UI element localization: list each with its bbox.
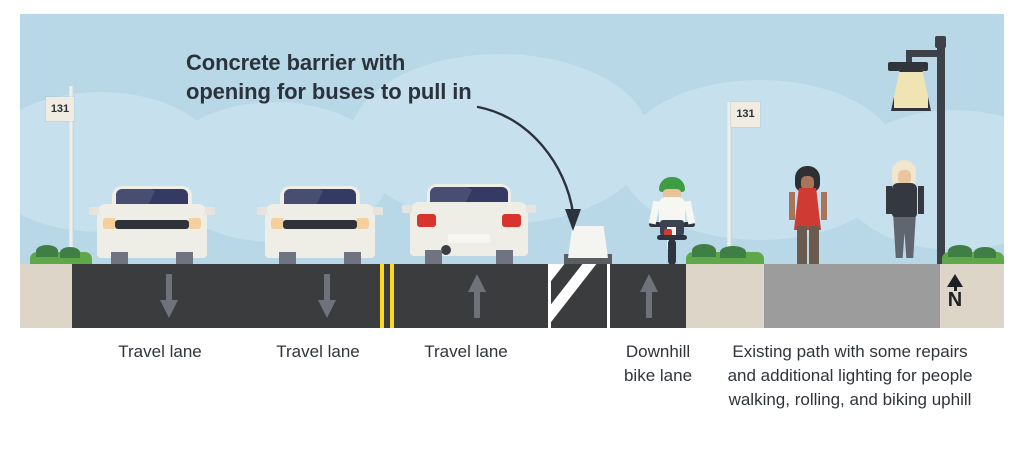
car-grille (283, 220, 358, 229)
route-sign-left: 131 (46, 97, 74, 121)
car-mirror-right (373, 207, 383, 215)
lane-label-row: Travel lane Travel lane Travel lane Down… (0, 334, 1024, 452)
route-sign-right: 131 (731, 102, 760, 127)
north-arrow-icon (947, 274, 963, 287)
car-wheel-right (344, 252, 361, 264)
pedestrian-dress (794, 188, 821, 230)
car-grille (115, 220, 190, 229)
compass-north-indicator: N (940, 274, 970, 310)
car-mirror-right (205, 207, 215, 215)
lamp-post-pole (937, 46, 945, 264)
bush-icon (948, 245, 972, 257)
label-travel-lane-2: Travel lane (238, 340, 398, 364)
pedestrian-head (801, 176, 814, 190)
car-wheel-left (279, 252, 296, 264)
center-line-left (380, 264, 384, 328)
car-mirror-left (257, 207, 267, 215)
car-1 (97, 186, 207, 264)
car-wheel-right (496, 250, 513, 264)
bush-icon (692, 244, 716, 257)
route-sign-right-number: 131 (736, 109, 754, 120)
car-wheel-left (111, 252, 128, 264)
lamp-post-arm (908, 50, 940, 57)
lamp-lantern-icon (891, 69, 931, 111)
hatch-stripe (548, 264, 610, 328)
bush-icon (974, 247, 996, 258)
pedestrian-pants (893, 212, 916, 258)
pedestrian-red-dress (788, 166, 828, 264)
car-headlight-right (356, 218, 369, 229)
label-downhill-bike-lane: Downhill bike lane (608, 340, 708, 388)
car-mirror-left (402, 205, 412, 213)
lane-arrow-3 (464, 274, 490, 318)
bicycle-front-wheel (668, 239, 676, 264)
callout-curved-arrow-icon (470, 95, 610, 245)
bush-icon (720, 246, 746, 258)
car-taillight-left (417, 214, 436, 227)
callout-line-1: Concrete barrier with (186, 48, 526, 77)
pedestrian-top (892, 183, 917, 217)
label-travel-lane-1: Travel lane (80, 340, 240, 364)
existing-path-surface (764, 264, 940, 328)
compass-label: N (940, 290, 970, 310)
right-verge-inner (686, 264, 764, 328)
pedestrian-arm-left (789, 192, 795, 220)
label-travel-lane-3: Travel lane (386, 340, 546, 364)
route-sign-left-number: 131 (51, 104, 69, 115)
car-wheel-right (176, 252, 193, 264)
pedestrian-leg-left (797, 226, 807, 264)
lane-arrow-bike (636, 274, 662, 318)
street-cross-section-illustration: 131 131 (0, 0, 1024, 452)
bush-icon (36, 245, 58, 257)
bush-icon (60, 247, 80, 258)
center-line-right (390, 264, 394, 328)
car-headlight-right (188, 218, 201, 229)
car-2 (265, 186, 375, 264)
car-body (265, 204, 375, 258)
pedestrian-arm-right (821, 192, 827, 220)
ground-cross-section: N (20, 264, 1004, 328)
pedestrian-arm-right (918, 186, 924, 214)
lane-arrow-2 (314, 274, 340, 318)
cyclist-arm-right (684, 201, 696, 225)
car-mirror-left (89, 207, 99, 215)
cyclist (647, 177, 697, 264)
car-wheel-left (425, 250, 442, 264)
left-verge (20, 264, 72, 328)
pedestrian-head (898, 170, 911, 184)
car-body (97, 204, 207, 258)
pedestrian-leg-right (809, 226, 819, 264)
pedestrian-blonde (885, 160, 925, 264)
lane-arrow-1 (156, 274, 182, 318)
label-existing-path: Existing path with some repairs and addi… (716, 340, 984, 412)
hatched-buffer-zone (548, 264, 610, 328)
